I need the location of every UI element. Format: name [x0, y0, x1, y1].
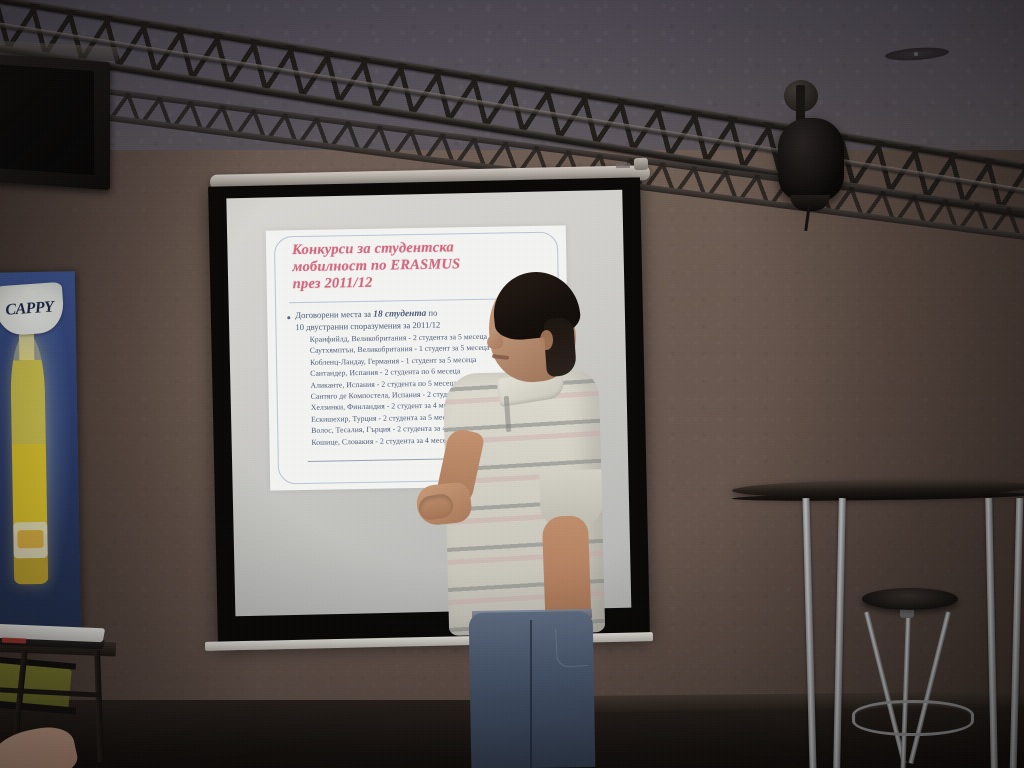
lead-pre: Договорени места за: [295, 309, 373, 320]
presentation-room-photo: Конкурси за студентска мобилност по ERAS…: [0, 0, 1024, 768]
laptop-accent-stripe: [2, 637, 26, 643]
presenter-ear: [540, 330, 553, 350]
bar-stool-footrest-ring: [852, 700, 974, 736]
lead-line-2: 10 двустранни споразумения за 2011/12: [295, 320, 440, 333]
stage-light: [778, 118, 844, 202]
cappy-logo-text: CAPPY: [0, 298, 60, 320]
bullet-dot-icon: [287, 316, 290, 319]
cappy-banner: CAPPY: [0, 271, 81, 638]
jeans-pocket: [555, 627, 588, 668]
crown-icon: [20, 287, 37, 297]
lead-emphasis: 18 студента: [373, 309, 426, 320]
ceiling-vent-hub: [914, 52, 918, 56]
speaker-grille: [0, 64, 94, 175]
cappy-bottle-label-band: [17, 530, 43, 548]
stage-light-bracket: [796, 85, 805, 121]
roller-brand-plate: [616, 163, 630, 168]
jeans-seam: [530, 620, 532, 768]
ceiling-speaker: [0, 54, 110, 190]
roller-end-cap: [634, 158, 648, 170]
slide-lead-text: Договорени места за 18 студента по10 дву…: [295, 308, 440, 334]
bar-stool-seat: [862, 588, 958, 610]
lead-post: по: [426, 308, 437, 318]
